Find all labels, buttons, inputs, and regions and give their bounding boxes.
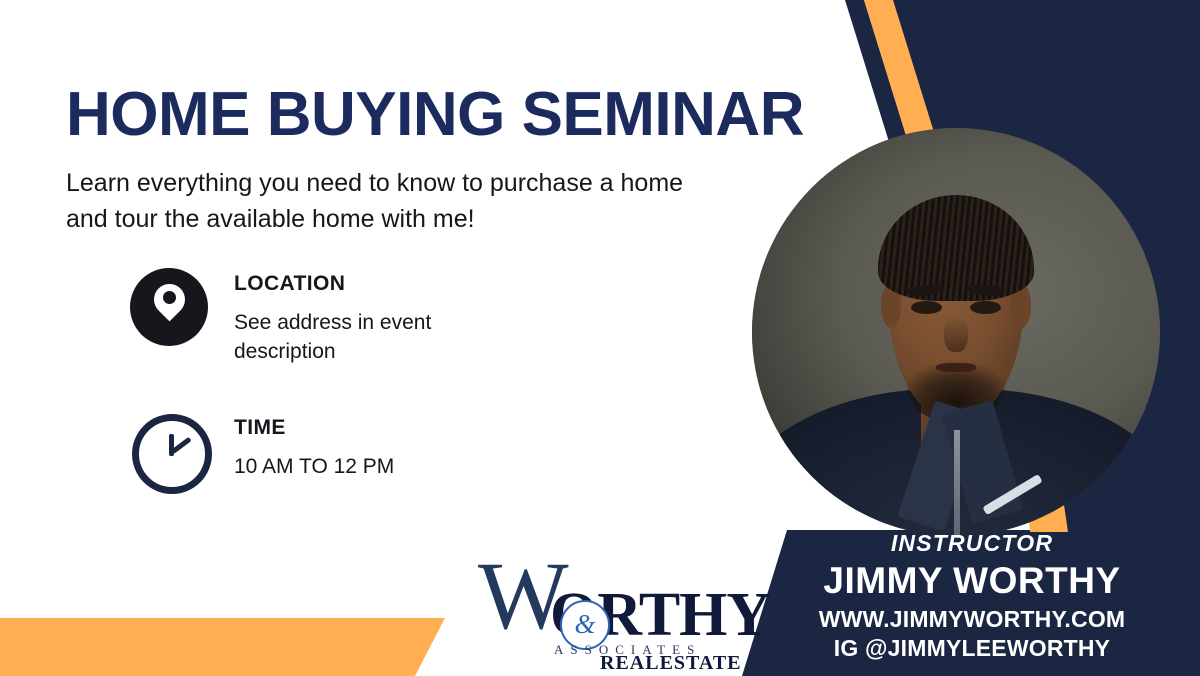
worthy-associates-logo: W ORTHY & ASSOCIATES REALESTATE (478, 548, 730, 660)
time-label: TIME (234, 416, 394, 440)
instructor-info-block: INSTRUCTOR JIMMY WORTHY WWW.JIMMYWORTHY.… (762, 530, 1182, 662)
time-text-block: TIME 10 AM TO 12 PM (234, 412, 394, 482)
location-label: LOCATION (234, 272, 504, 296)
instructor-headshot-photo (752, 128, 1160, 536)
instructor-name: JIMMY WORTHY (762, 560, 1182, 602)
location-text-block: LOCATION See address in event descriptio… (234, 268, 504, 367)
detail-row-time: TIME 10 AM TO 12 PM (130, 412, 394, 490)
flyer-title: HOME BUYING SEMINAR (66, 84, 804, 146)
instructor-kicker: INSTRUCTOR (762, 530, 1182, 557)
instructor-website[interactable]: WWW.JIMMYWORTHY.COM (762, 606, 1182, 633)
pin-icon-dot (163, 291, 176, 304)
time-value: 10 AM TO 12 PM (234, 453, 394, 482)
flyer-subtitle: Learn everything you need to know to pur… (66, 166, 686, 237)
location-value: See address in event description (234, 309, 504, 367)
location-pin-icon (130, 268, 208, 346)
detail-row-location: LOCATION See address in event descriptio… (130, 268, 504, 367)
instructor-instagram[interactable]: IG @JIMMYLEEWORTHY (762, 635, 1182, 662)
photo-mouth (936, 363, 977, 372)
logo-subtagline: REALESTATE (600, 652, 742, 675)
event-flyer: HOME BUYING SEMINAR Learn everything you… (0, 0, 1200, 676)
clock-icon (130, 412, 208, 490)
photo-zipper (954, 430, 961, 536)
